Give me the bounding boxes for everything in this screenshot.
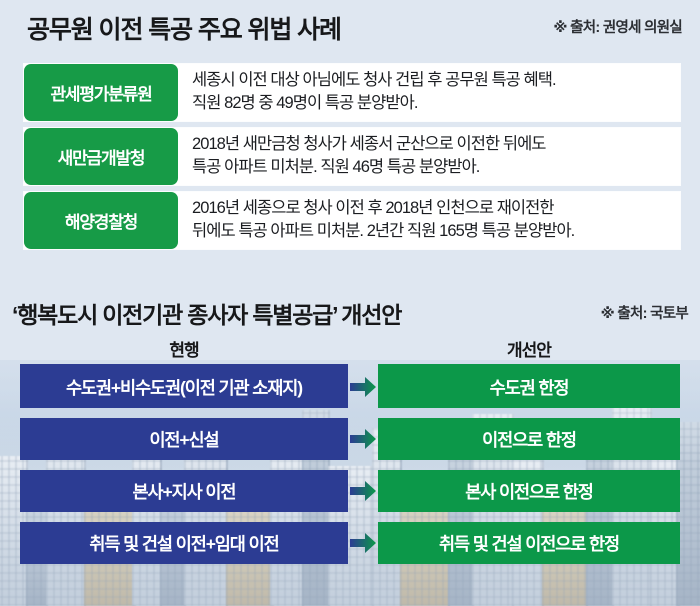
cases-source-note: ※ 출처: 권영세 의원실 — [553, 16, 682, 37]
case-description-line: 2016년 세종으로 청사 이전 후 2018년 인천으로 재이전한 — [192, 197, 670, 220]
arrow-right-icon — [350, 429, 376, 449]
improvement-source-note: ※ 출처: 국토부 — [601, 302, 688, 323]
infographic-root: 공무원 이전 특공 주요 위법 사례 ※ 출처: 권영세 의원실 관세평가분류원… — [0, 0, 700, 606]
arrow-right-icon — [350, 533, 376, 553]
case-description: 2016년 세종으로 청사 이전 후 2018년 인천으로 재이전한 뒤에도 특… — [178, 192, 680, 249]
table-row: 해양경찰청 2016년 세종으로 청사 이전 후 2018년 인천으로 재이전한… — [24, 192, 680, 249]
improved-policy-bar: 수도권 한정 — [378, 366, 680, 408]
improvement-comparison-table: 현행 개선안 수도권+비수도권(이전 기관 소재지) 수도권 한정 — [0, 336, 700, 564]
case-agency-badge: 관세평가분류원 — [24, 64, 178, 121]
case-description-line: 직원 82명 중 49명이 특공 분양받아. — [192, 92, 670, 115]
comparison-row: 수도권+비수도권(이전 기관 소재지) 수도권 한정 — [0, 366, 700, 408]
current-policy-bar: 수도권+비수도권(이전 기관 소재지) — [20, 366, 348, 408]
cases-title: 공무원 이전 특공 주요 위법 사례 — [27, 10, 341, 46]
case-description: 세종시 이전 대상 아님에도 청사 건립 후 공무원 특공 혜택. 직원 82명… — [178, 64, 680, 121]
case-agency-badge: 해양경찰청 — [24, 192, 178, 249]
improved-policy-bar: 본사 이전으로 한정 — [378, 470, 680, 512]
table-row: 관세평가분류원 세종시 이전 대상 아님에도 청사 건립 후 공무원 특공 혜택… — [24, 64, 680, 121]
improvement-header: ‘행복도시 이전기관 종사자 특별공급’ 개선안 ※ 출처: 국토부 — [0, 296, 700, 334]
violation-cases-table: 관세평가분류원 세종시 이전 대상 아님에도 청사 건립 후 공무원 특공 혜택… — [24, 64, 680, 249]
comparison-column-headers: 현행 개선안 — [0, 336, 700, 366]
case-description: 2018년 새만금청 청사가 세종서 군산으로 이전한 뒤에도 특공 아파트 미… — [178, 128, 680, 185]
cases-header: 공무원 이전 특공 주요 위법 사례 ※ 출처: 권영세 의원실 — [0, 10, 700, 52]
column-header-current: 현행 — [20, 336, 348, 361]
case-description-line: 특공 아파트 미처분. 직원 46명 특공 분양받아. — [192, 156, 670, 179]
case-description-line: 세종시 이전 대상 아님에도 청사 건립 후 공무원 특공 혜택. — [192, 69, 670, 92]
column-header-improved: 개선안 — [378, 336, 680, 361]
case-description-line: 뒤에도 특공 아파트 미처분. 2년간 직원 165명 특공 분양받아. — [192, 220, 670, 243]
current-policy-bar: 취득 및 건설 이전+임대 이전 — [20, 522, 348, 564]
improved-policy-bar: 이전으로 한정 — [378, 418, 680, 460]
comparison-row: 본사+지사 이전 본사 이전으로 한정 — [0, 470, 700, 512]
improvement-title: ‘행복도시 이전기관 종사자 특별공급’ 개선안 — [12, 296, 401, 330]
comparison-row: 취득 및 건설 이전+임대 이전 취득 및 건설 이전으로 한정 — [0, 522, 700, 564]
arrow-right-icon — [350, 377, 376, 397]
improved-policy-bar: 취득 및 건설 이전으로 한정 — [378, 522, 680, 564]
case-agency-badge: 새만금개발청 — [24, 128, 178, 185]
table-row: 새만금개발청 2018년 새만금청 청사가 세종서 군산으로 이전한 뒤에도 특… — [24, 128, 680, 185]
comparison-row: 이전+신설 이전으로 한정 — [0, 418, 700, 460]
current-policy-bar: 이전+신설 — [20, 418, 348, 460]
case-description-line: 2018년 새만금청 청사가 세종서 군산으로 이전한 뒤에도 — [192, 133, 670, 156]
current-policy-bar: 본사+지사 이전 — [20, 470, 348, 512]
arrow-right-icon — [350, 481, 376, 501]
